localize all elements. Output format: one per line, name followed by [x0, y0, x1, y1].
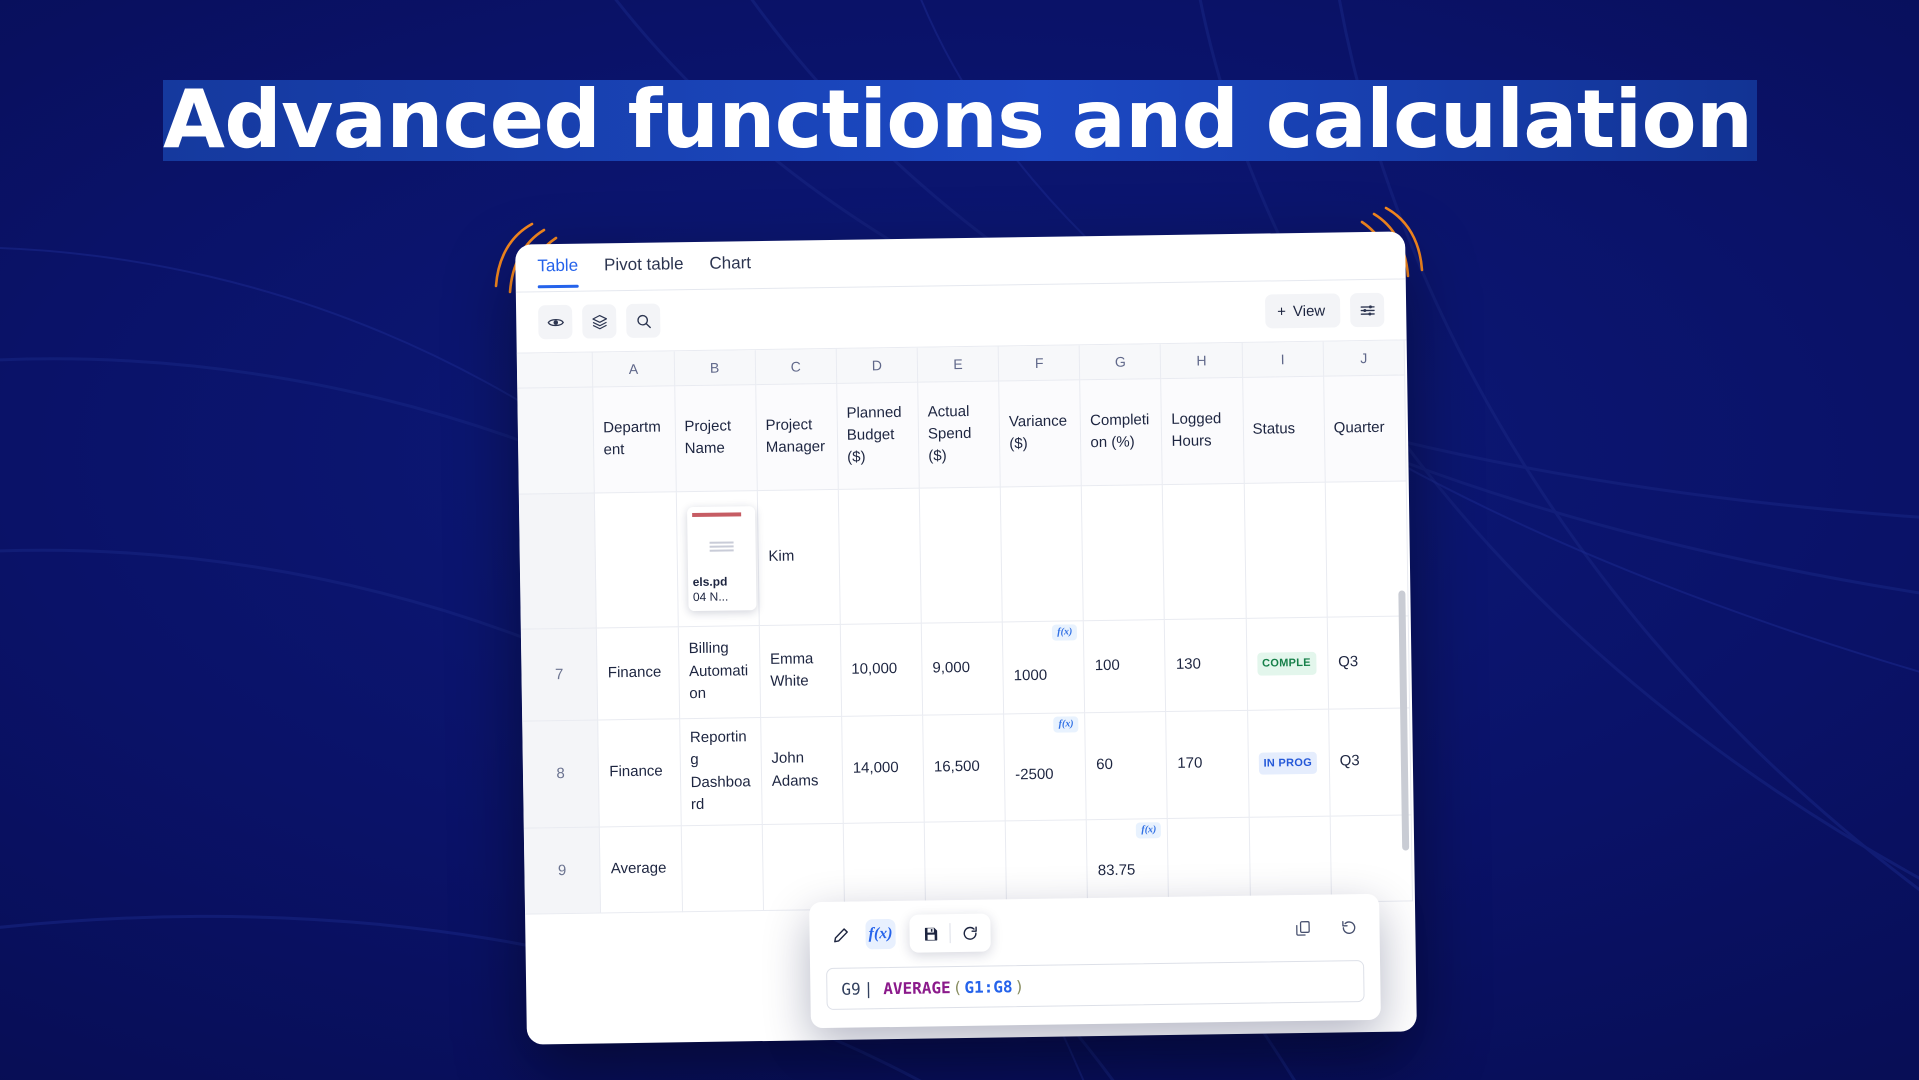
- function-fx-label: f(x): [868, 925, 892, 943]
- copy-icon[interactable]: [1287, 913, 1317, 943]
- cell-status[interactable]: [1249, 816, 1331, 903]
- formula-fx-icon: f(x): [1052, 624, 1077, 640]
- field-header-planned-budget[interactable]: Planned Budget ($): [837, 382, 920, 489]
- cell-project-name[interactable]: Reporting Dashboard: [679, 717, 762, 825]
- tab-chart[interactable]: Chart: [709, 253, 751, 285]
- row-index: 8: [522, 719, 599, 827]
- undo-icon[interactable]: [1333, 912, 1363, 942]
- plus-icon: +: [1277, 303, 1286, 320]
- cell-department[interactable]: Average: [600, 825, 682, 912]
- cell-actual-spend[interactable]: 16,500: [923, 713, 1006, 821]
- field-header-row: Department Project Name Project Manager …: [517, 374, 1406, 493]
- cell-logged-hours[interactable]: 130: [1165, 618, 1248, 711]
- cell-variance[interactable]: [1005, 819, 1087, 906]
- column-header-g[interactable]: G: [1079, 344, 1161, 379]
- cell-planned-budget[interactable]: 14,000: [842, 715, 925, 823]
- grid-corner: [517, 353, 593, 388]
- cell-variance-value: -2500: [1015, 766, 1054, 784]
- field-header-department[interactable]: Department: [593, 385, 676, 492]
- cell-status[interactable]: IN PROG: [1247, 709, 1330, 817]
- cell-completion-value: 83.75: [1098, 861, 1136, 879]
- cell-variance[interactable]: f(x) -2500: [1004, 712, 1087, 820]
- headline: Advanced functions and calculation: [0, 64, 1919, 176]
- column-header-j[interactable]: J: [1323, 340, 1405, 375]
- layers-icon[interactable]: [582, 304, 617, 339]
- cell-department[interactable]: Finance: [597, 626, 680, 719]
- cell-logged-hours[interactable]: 170: [1166, 710, 1249, 818]
- save-icon[interactable]: [915, 918, 945, 948]
- cell-completion[interactable]: 100: [1084, 619, 1167, 712]
- row-index: [519, 492, 597, 628]
- cell-actual-spend[interactable]: [924, 820, 1006, 907]
- cell-completion[interactable]: [1082, 484, 1165, 620]
- cell-variance[interactable]: [1000, 485, 1083, 621]
- cell-actual-spend[interactable]: [919, 486, 1002, 622]
- cell-department[interactable]: Finance: [598, 718, 681, 826]
- add-view-button[interactable]: + View: [1265, 293, 1341, 328]
- cell-completion[interactable]: 60: [1085, 711, 1168, 819]
- column-header-f[interactable]: F: [998, 345, 1080, 380]
- cell-project-name[interactable]: [681, 824, 763, 911]
- cell-project-manager[interactable]: Emma White: [759, 624, 842, 717]
- cell-project-name-attachment[interactable]: els.pd 04 N...: [676, 490, 759, 626]
- attachment-filename: els.pd: [693, 574, 751, 590]
- formula-action-group: [909, 914, 991, 953]
- column-header-h[interactable]: H: [1161, 343, 1243, 378]
- sheet-table: A B C D E F G H I J Department Project N…: [517, 340, 1413, 914]
- formula-paren-close: ): [1014, 977, 1024, 996]
- edit-pencil-icon[interactable]: [825, 920, 855, 950]
- cell-status[interactable]: COMPLE: [1246, 617, 1329, 710]
- field-row-corner: [517, 387, 594, 494]
- toolbar-right-group: + View: [1265, 293, 1385, 329]
- field-header-logged-hours[interactable]: Logged Hours: [1161, 377, 1244, 484]
- column-header-c[interactable]: C: [755, 349, 837, 384]
- tab-table[interactable]: Table: [537, 256, 578, 288]
- column-header-d[interactable]: D: [836, 348, 918, 383]
- status-badge: IN PROG: [1258, 752, 1317, 775]
- cell-status[interactable]: [1244, 482, 1327, 618]
- cell-project-manager[interactable]: [762, 823, 844, 910]
- formula-fx-icon: f(x): [1136, 822, 1161, 838]
- cell-department[interactable]: [595, 491, 678, 627]
- cell-quarter[interactable]: Q3: [1327, 615, 1410, 708]
- status-badge: COMPLE: [1257, 652, 1316, 675]
- cell-variance[interactable]: f(x) 1000: [1002, 620, 1085, 713]
- row-index: 7: [521, 627, 598, 720]
- formula-range: G1:G8: [964, 977, 1012, 997]
- formula-function-name: AVERAGE: [883, 978, 951, 998]
- cell-project-manager[interactable]: Kim: [757, 489, 840, 625]
- field-header-project-name[interactable]: Project Name: [674, 384, 757, 491]
- cell-quarter[interactable]: [1325, 480, 1408, 616]
- cell-planned-budget[interactable]: 10,000: [840, 623, 923, 716]
- cell-actual-spend[interactable]: 9,000: [921, 621, 1004, 714]
- formula-cell-ref: G9: [841, 979, 861, 998]
- row-index: 9: [524, 826, 601, 913]
- formula-right-actions: [1287, 912, 1363, 943]
- attachment-header-bar: [692, 512, 742, 517]
- cell-planned-budget[interactable]: [838, 488, 921, 624]
- table-row[interactable]: 7 Finance Billing Automation Emma White …: [521, 615, 1410, 720]
- column-header-e[interactable]: E: [917, 346, 999, 381]
- refresh-icon[interactable]: [954, 918, 984, 948]
- field-header-quarter[interactable]: Quarter: [1323, 374, 1406, 481]
- add-view-label: View: [1293, 302, 1325, 319]
- column-header-b[interactable]: B: [674, 350, 756, 385]
- function-fx-icon[interactable]: f(x): [865, 919, 895, 949]
- cell-logged-hours[interactable]: [1163, 483, 1246, 619]
- table-row[interactable]: els.pd 04 N... Kim: [519, 480, 1408, 628]
- column-header-i[interactable]: I: [1242, 342, 1324, 377]
- formula-toolbar: f(x): [825, 908, 1364, 954]
- table-row[interactable]: 8 Finance Reporting Dashboard John Adams…: [522, 707, 1411, 827]
- eye-icon[interactable]: [538, 305, 573, 340]
- field-header-variance[interactable]: Variance ($): [999, 379, 1082, 486]
- formula-paren-open: (: [953, 977, 963, 996]
- toolbar-left-group: [538, 304, 660, 340]
- cell-variance-value: 1000: [1014, 667, 1048, 684]
- tab-pivot-table[interactable]: Pivot table: [604, 254, 684, 286]
- headline-text: Advanced functions and calculation: [163, 64, 1803, 176]
- formula-editor-popover: f(x): [809, 894, 1381, 1028]
- cell-project-name[interactable]: Billing Automation: [678, 625, 761, 718]
- field-header-project-manager[interactable]: Project Manager: [755, 383, 838, 490]
- cell-quarter[interactable]: [1330, 814, 1412, 901]
- formula-fx-icon: f(x): [1053, 716, 1078, 732]
- toolbar-divider: [949, 923, 950, 943]
- attachment-preview-lines: [692, 519, 751, 575]
- formula-caret: |: [864, 979, 874, 998]
- cell-planned-budget[interactable]: [843, 822, 925, 909]
- cell-quarter[interactable]: Q3: [1328, 707, 1411, 815]
- field-header-status[interactable]: Status: [1242, 376, 1325, 483]
- cell-project-manager[interactable]: John Adams: [760, 716, 843, 824]
- field-header-actual-spend[interactable]: Actual Spend ($): [918, 380, 1001, 487]
- cell-completion[interactable]: f(x) 83.75: [1087, 818, 1169, 905]
- column-header-a[interactable]: A: [593, 351, 675, 386]
- formula-input[interactable]: G9 | AVERAGE ( G1:G8 ): [826, 960, 1365, 1010]
- field-header-completion[interactable]: Completion (%): [1080, 378, 1163, 485]
- file-attachment-card[interactable]: els.pd 04 N...: [687, 506, 757, 611]
- attachment-meta: 04 N...: [693, 589, 751, 605]
- search-icon[interactable]: [626, 304, 661, 339]
- sliders-icon[interactable]: [1350, 293, 1385, 328]
- cell-logged-hours[interactable]: [1168, 817, 1250, 904]
